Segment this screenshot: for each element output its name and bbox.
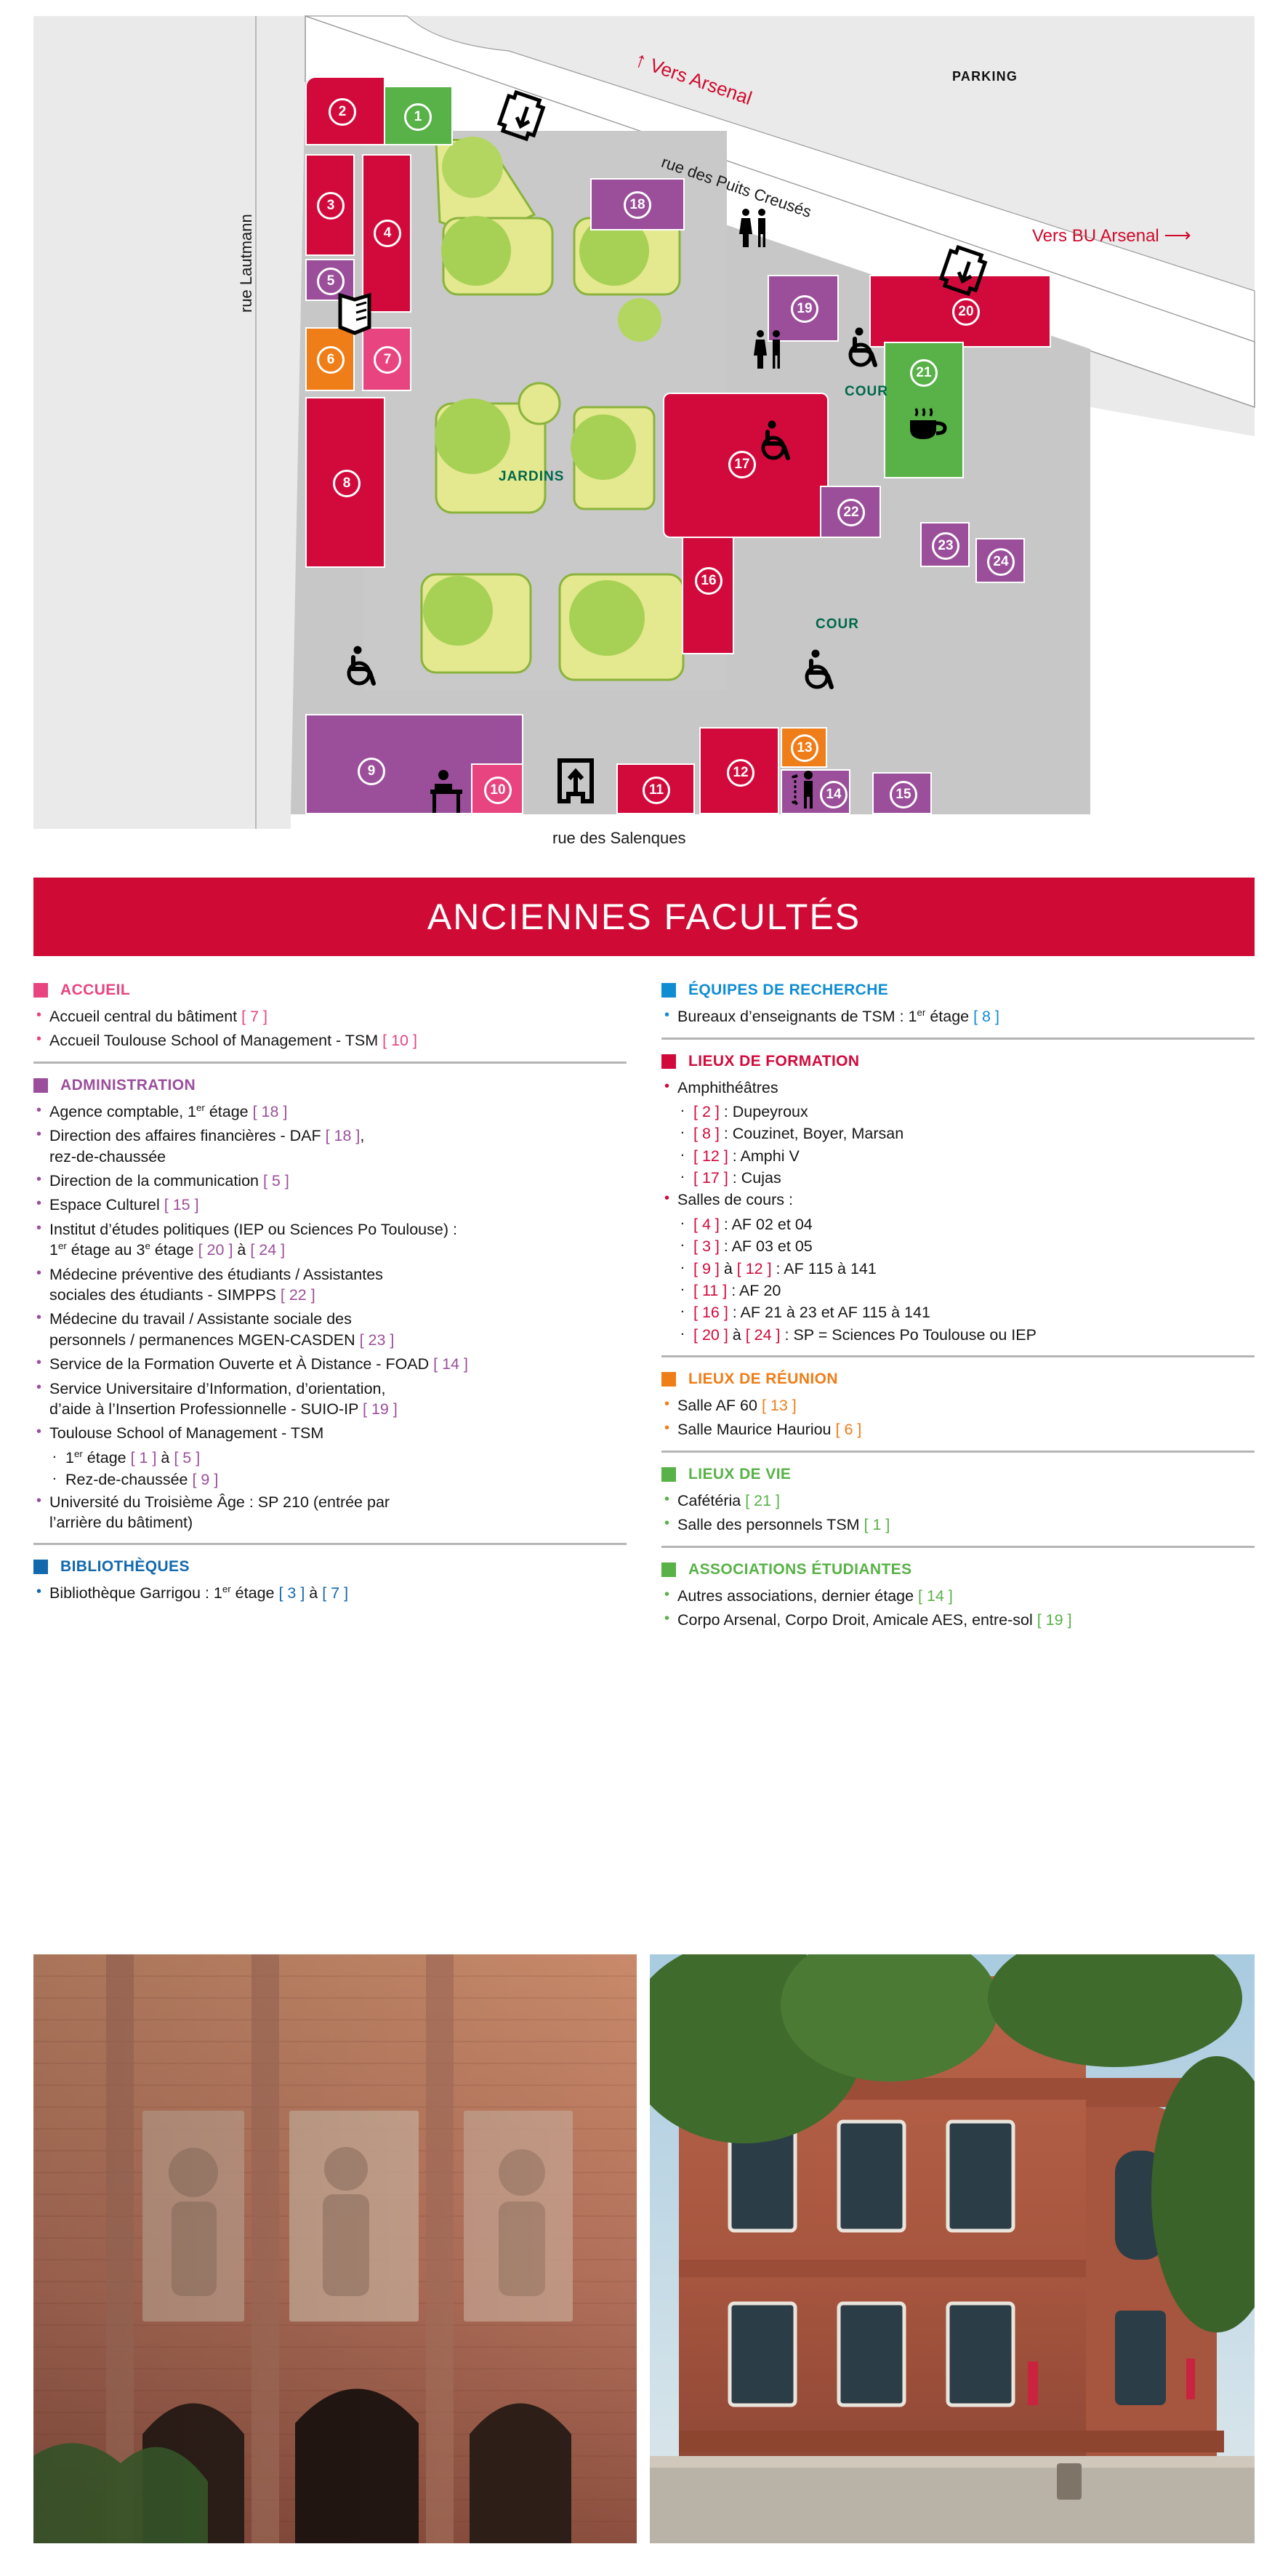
elevator-icon <box>792 771 813 808</box>
legend-entry[interactable]: Médecine préventive des étudiants / Assi… <box>33 1264 627 1306</box>
legend-entry[interactable]: Agence comptable, 1er étage [ 18 ] <box>33 1102 627 1123</box>
wheelchair-icon-2 <box>763 421 788 459</box>
page-title-banner: ANCIENNES FACULTÉS <box>33 878 1255 956</box>
building-reference: [ 3 ] <box>693 1237 720 1255</box>
building-reference: [ 5 ] <box>174 1449 200 1466</box>
building-reference: [ 24 ] <box>250 1241 285 1259</box>
legend-divider <box>33 1062 627 1064</box>
legend-divider <box>33 1543 627 1545</box>
legend-entry[interactable]: Service Universitaire d’Information, d’o… <box>33 1379 627 1420</box>
building-reference: [ 7 ] <box>241 1008 267 1025</box>
legend-subentry[interactable]: [ 2 ] : Dupeyroux <box>661 1102 1255 1122</box>
legend-entry[interactable]: Salle Maurice Hauriou [ 6 ] <box>661 1419 1255 1440</box>
legend-section-administration: ADMINISTRATIONAgence comptable, 1er étag… <box>33 1077 627 1533</box>
building-reference: [ 19 ] <box>363 1400 398 1418</box>
legend-section-equipes-de-recherche: ÉQUIPES DE RECHERCHEBureaux d’enseignant… <box>661 982 1255 1027</box>
building-reference: [ 12 ] <box>737 1260 772 1277</box>
building-reference: [ 17 ] <box>693 1169 728 1187</box>
legend-section-lieux-de-formation: LIEUX DE FORMATIONAmphithéâtres[ 2 ] : D… <box>661 1053 1255 1346</box>
legend-section-title: LIEUX DE VIE <box>688 1466 791 1483</box>
legend-entry[interactable]: Toulouse School of Management - TSM <box>33 1423 627 1443</box>
building-reference: [ 20 ] <box>693 1326 728 1344</box>
legend-entry[interactable]: Médecine du travail / Assistante sociale… <box>33 1309 627 1350</box>
legend-section-bibliotheques: BIBLIOTHÈQUESBibliothèque Garrigou : 1er… <box>33 1558 627 1604</box>
legend-section-header: LIEUX DE RÉUNION <box>661 1371 1255 1388</box>
legend-section-lieux-de-vie: LIEUX DE VIECafétéria [ 21 ]Salle des pe… <box>661 1466 1255 1536</box>
legend-entry[interactable]: Bibliothèque Garrigou : 1er étage [ 3 ] … <box>33 1583 627 1604</box>
entrance-up-icon <box>560 761 592 801</box>
legend-entry[interactable]: Salles de cours : <box>661 1189 1255 1210</box>
legend-section-title: ASSOCIATIONS ÉTUDIANTES <box>688 1561 912 1578</box>
legend-divider <box>661 1355 1255 1357</box>
legend-divider <box>661 1038 1255 1040</box>
legend-section-header: ADMINISTRATION <box>33 1077 627 1094</box>
book-icon <box>340 295 369 333</box>
legend-section-title: BIBLIOTHÈQUES <box>60 1558 190 1576</box>
legend-color-swatch <box>33 983 48 998</box>
legend-subentry[interactable]: [ 20 ] à [ 24 ] : SP = Sciences Po Toulo… <box>661 1325 1255 1345</box>
legend-entry[interactable]: Université du Troisième Âge : SP 210 (en… <box>33 1492 627 1533</box>
legend-column-left: ACCUEILAccueil central du bâtiment [ 7 ]… <box>33 982 627 1919</box>
legend-section-title: LIEUX DE FORMATION <box>688 1053 859 1070</box>
building-reference: [ 8 ] <box>693 1125 720 1142</box>
legend-section-title: LIEUX DE RÉUNION <box>688 1371 838 1388</box>
legend-section-title: ÉQUIPES DE RECHERCHE <box>688 982 888 999</box>
legend-section-header: ÉQUIPES DE RECHERCHE <box>661 982 1255 999</box>
legend-entry[interactable]: Amphithéâtres <box>661 1078 1255 1098</box>
toilets-icon-2 <box>754 330 780 369</box>
page-title: ANCIENNES FACULTÉS <box>427 896 861 938</box>
building-reference: [ 8 ] <box>973 1008 999 1025</box>
photo-brick-building <box>650 1954 1255 2543</box>
building-reference: [ 1 ] <box>864 1516 890 1533</box>
legend-entry[interactable]: Autres associations, dernier étage [ 14 … <box>661 1586 1255 1606</box>
legend-divider <box>661 1546 1255 1548</box>
building-reference: [ 13 ] <box>762 1397 797 1414</box>
legend-entry[interactable]: Service de la Formation Ouverte et À Dis… <box>33 1354 627 1374</box>
photo-facade-bas-relief <box>33 1954 637 2543</box>
legend-entry[interactable]: Espace Culturel [ 15 ] <box>33 1195 627 1215</box>
legend-entry[interactable]: Accueil Toulouse School of Management - … <box>33 1030 627 1051</box>
legend-section-header: BIBLIOTHÈQUES <box>33 1558 627 1576</box>
building-reference: [ 23 ] <box>360 1331 395 1349</box>
legend-color-swatch <box>33 1078 48 1093</box>
building-reference: [ 15 ] <box>164 1196 199 1213</box>
building-reference: [ 5 ] <box>263 1172 289 1189</box>
legend-subentry[interactable]: [ 16 ] : AF 21 à 23 et AF 115 à 141 <box>661 1302 1255 1323</box>
legend-color-swatch <box>661 1562 676 1577</box>
legend-color-swatch <box>661 1372 676 1387</box>
building-reference: [ 14 ] <box>433 1355 468 1373</box>
toilets-icon <box>739 209 765 247</box>
building-reference: [ 14 ] <box>918 1587 953 1605</box>
legend-subentry[interactable]: [ 4 ] : AF 02 et 04 <box>661 1214 1255 1235</box>
legend-section-header: ASSOCIATIONS ÉTUDIANTES <box>661 1561 1255 1578</box>
legend-section-title: ACCUEIL <box>60 982 130 999</box>
building-reference: [ 20 ] <box>198 1241 233 1259</box>
building-reference: [ 22 ] <box>281 1286 315 1304</box>
legend-section-accueil: ACCUEILAccueil central du bâtiment [ 7 ]… <box>33 982 627 1051</box>
legend-subentry[interactable]: [ 17 ] : Cujas <box>661 1168 1255 1188</box>
legend-entry[interactable]: Direction des affaires financières - DAF… <box>33 1126 627 1167</box>
legend-color-swatch <box>661 983 676 998</box>
building-reference: [ 7 ] <box>322 1585 348 1602</box>
building-reference: [ 11 ] <box>693 1282 727 1299</box>
legend-entry[interactable]: Accueil central du bâtiment [ 7 ] <box>33 1006 627 1027</box>
legend-section-lieux-de-reunion: LIEUX DE RÉUNIONSalle AF 60 [ 13 ]Salle … <box>661 1371 1255 1440</box>
building-reference: [ 2 ] <box>693 1103 720 1120</box>
legend-divider <box>661 1450 1255 1453</box>
building-reference: [ 10 ] <box>382 1032 417 1049</box>
legend-column-right: ÉQUIPES DE RECHERCHEBureaux d’enseignant… <box>661 982 1255 1919</box>
legend-entry[interactable]: Bureaux d’enseignants de TSM : 1er étage… <box>661 1006 1255 1027</box>
building-reference: [ 1 ] <box>131 1449 157 1466</box>
building-reference: [ 9 ] <box>693 1260 720 1277</box>
entrance-down-icon-2 <box>939 245 987 295</box>
legend-color-swatch <box>661 1054 676 1069</box>
legend-entry[interactable]: Corpo Arsenal, Corpo Droit, Amicale AES,… <box>661 1610 1255 1630</box>
legend-color-swatch <box>661 1467 676 1482</box>
reception-desk-icon <box>430 770 462 813</box>
legend-subentry[interactable]: [ 8 ] : Couzinet, Boyer, Marsan <box>661 1123 1255 1144</box>
wheelchair-icon-4 <box>807 650 832 688</box>
legend-subentry[interactable]: [ 11 ] : AF 20 <box>661 1280 1255 1301</box>
legend-section-header: LIEUX DE FORMATION <box>661 1053 1255 1070</box>
legend-subentry[interactable]: [ 12 ] : Amphi V <box>661 1146 1255 1166</box>
building-reference: [ 12 ] <box>693 1147 728 1165</box>
legend-section-title: ADMINISTRATION <box>60 1077 196 1094</box>
legend-section-associations-etudiantes: ASSOCIATIONS ÉTUDIANTESAutres associatio… <box>661 1561 1255 1631</box>
building-reference: [ 18 ] <box>253 1103 288 1120</box>
legend-section-header: ACCUEIL <box>33 982 627 999</box>
legend-entry[interactable]: Salle des personnels TSM [ 1 ] <box>661 1514 1255 1535</box>
map-pictograms <box>0 0 1288 858</box>
legend: ACCUEILAccueil central du bâtiment [ 7 ]… <box>33 982 1255 1919</box>
legend-entry[interactable]: Direction de la communication [ 5 ] <box>33 1171 627 1191</box>
legend-subentry[interactable]: 1er étage [ 1 ] à [ 5 ] <box>33 1448 627 1469</box>
coffee-cup-icon <box>910 409 945 439</box>
legend-section-header: LIEUX DE VIE <box>661 1466 1255 1483</box>
photo-gallery <box>33 1954 1255 2543</box>
campus-map: 2 1 3 4 5 6 7 8 9 10 11 12 13 14 15 16 1 <box>0 0 1288 858</box>
building-reference: [ 24 ] <box>746 1326 781 1344</box>
building-reference: [ 9 ] <box>192 1471 218 1488</box>
legend-entry[interactable]: Salle AF 60 [ 13 ] <box>661 1395 1255 1416</box>
legend-color-swatch <box>33 1560 48 1574</box>
building-reference: [ 21 ] <box>745 1492 780 1509</box>
building-reference: [ 4 ] <box>693 1216 720 1233</box>
wheelchair-icon-3 <box>349 646 374 684</box>
building-reference: [ 6 ] <box>836 1421 862 1438</box>
legend-subentry[interactable]: [ 9 ] à [ 12 ] : AF 115 à 141 <box>661 1259 1255 1279</box>
entrance-down-icon <box>497 90 545 140</box>
building-reference: [ 19 ] <box>1037 1611 1072 1629</box>
legend-entry[interactable]: Cafétéria [ 21 ] <box>661 1490 1255 1511</box>
building-reference: [ 18 ] <box>326 1127 361 1144</box>
legend-subentry[interactable]: [ 3 ] : AF 03 et 05 <box>661 1236 1255 1256</box>
legend-entry[interactable]: Institut d’études politiques (IEP ou Sci… <box>33 1219 627 1261</box>
building-reference: [ 16 ] <box>693 1304 728 1321</box>
building-reference: [ 3 ] <box>278 1585 305 1602</box>
wheelchair-icon <box>850 328 875 366</box>
legend-subentry[interactable]: Rez-de-chaussée [ 9 ] <box>33 1469 627 1490</box>
